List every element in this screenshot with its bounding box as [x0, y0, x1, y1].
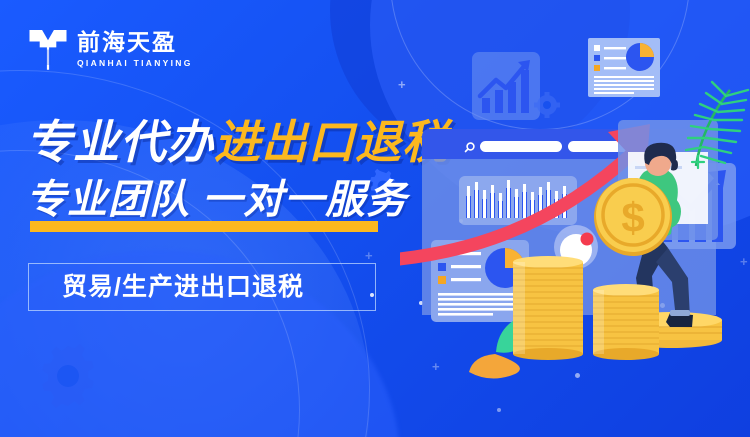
headline-line-2: 专业团队 一对一服务	[26, 180, 407, 220]
illustration-svg: $	[400, 0, 750, 437]
search-input-bar	[480, 141, 562, 152]
coin-dollar-symbol: $	[621, 194, 644, 241]
brand-name-cn: 前海天盈	[77, 30, 193, 54]
growth-chart-card-icon	[472, 52, 540, 120]
dollar-coin-icon: $	[594, 178, 672, 256]
trophy-y-mark-icon	[28, 28, 68, 70]
brand-name-en: QIANHAI TIANYING	[77, 58, 193, 68]
headline-line-1: 专业代办进出口退税	[26, 119, 449, 165]
coin-stack-tall	[513, 256, 583, 360]
subtitle-text: 贸易/生产进出口退税	[29, 275, 304, 300]
subtitle-box: 贸易/生产进出口退税	[28, 263, 376, 311]
sparkle-plus-icon: +	[365, 249, 373, 262]
brand-logo: 前海天盈 QIANHAI TIANYING	[28, 28, 193, 70]
headline-white-part: 专业代办	[26, 116, 214, 168]
promo-banner: + + + + 前海天盈 QIANHAI TIANYING 专业代办进出口退税 …	[0, 0, 750, 437]
illustration: $	[400, 0, 750, 437]
report-card-icon	[588, 38, 660, 97]
gear-icon	[22, 340, 114, 432]
headline-underline-bar	[30, 221, 378, 232]
coin-stack-short	[593, 284, 659, 360]
